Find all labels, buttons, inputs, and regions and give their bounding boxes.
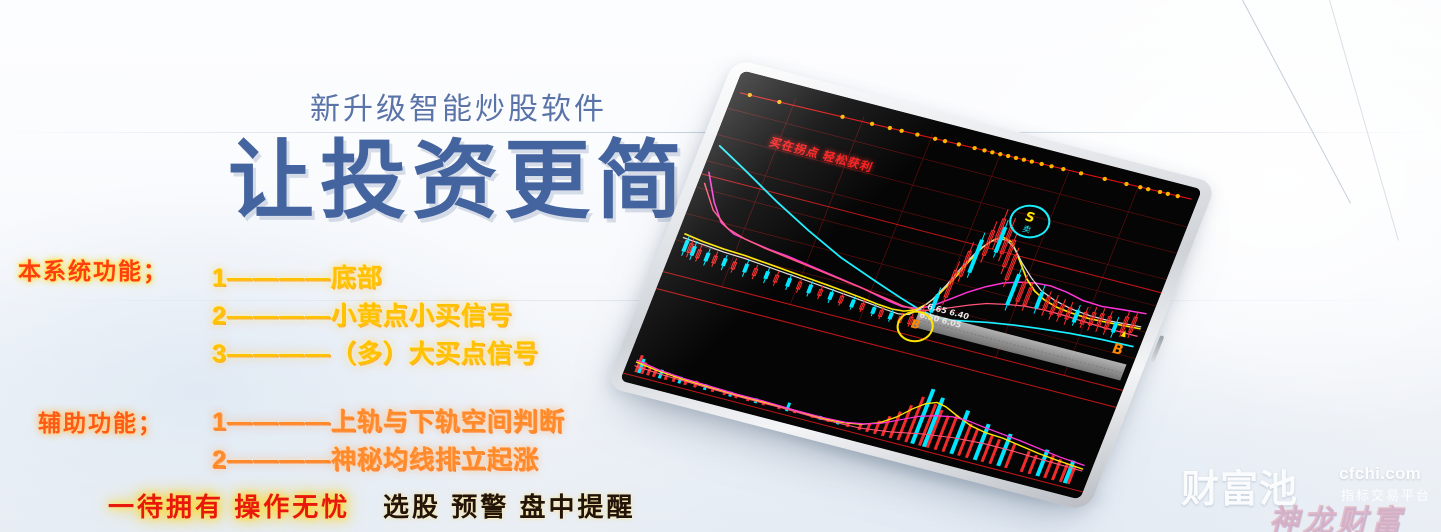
stock-chart: 6.65 6.40 6.50 6.05 S 卖 B	[620, 71, 1202, 500]
tablet-side-button	[1150, 335, 1164, 362]
features-aux-label: 辅助功能；	[38, 404, 163, 438]
features-main-label: 本系统功能；	[18, 252, 168, 286]
watermark-domain: cfchi.com	[1339, 464, 1421, 484]
feature-item-aux-1: 1————上轨与下轨空间判断	[212, 402, 565, 438]
watermark-ghost: 神龙财富	[1269, 496, 1405, 532]
tablet-body: 6.65 6.40 6.50 6.05 S 卖 B	[605, 59, 1216, 512]
tablet-screen: 6.65 6.40 6.50 6.05 S 卖 B	[620, 71, 1202, 500]
feature-item-aux-2: 2————神秘均线排立起涨	[212, 440, 539, 476]
feature-item-main-1: 1————底部	[212, 258, 383, 294]
tagline-right: 选股 预警 盘中提醒	[383, 487, 635, 524]
watermark-block: 财富池 cfchi.com 指标交易平台 神龙财富	[1173, 452, 1435, 532]
feature-item-main-3: 3————（多）大买点信号	[212, 334, 539, 370]
tagline-left: 一待拥有 操作无忧	[108, 487, 350, 524]
background-diagonal-line-2	[1329, 0, 1399, 241]
banner-subtitle: 新升级智能炒股软件	[310, 84, 607, 128]
promo-banner: 新升级智能炒股软件 让投资更简单 本系统功能； 1————底部 2————小黄点…	[0, 0, 1441, 532]
feature-item-main-2: 2————小黄点小买信号	[212, 296, 513, 332]
